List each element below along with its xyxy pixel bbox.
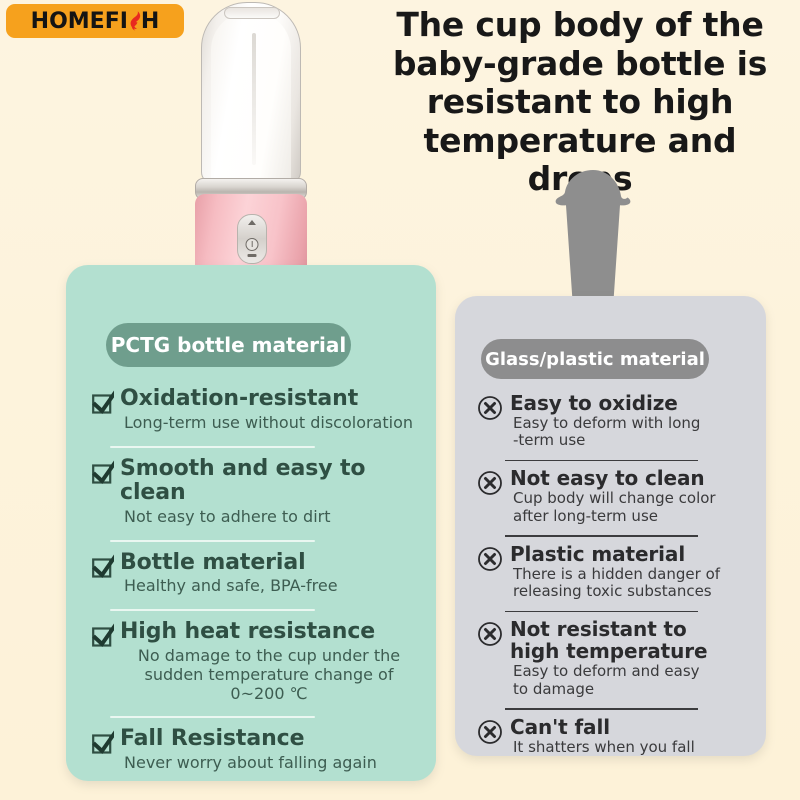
headline-line-2: baby-grade bottle is (368, 45, 792, 84)
list-item-subtitle: It shatters when you fall (513, 739, 752, 756)
checkbox-checked-icon (92, 730, 114, 756)
checkbox-checked-icon (92, 460, 114, 486)
brand-logo: HOMEFIH (6, 4, 184, 38)
list-item-title: Not easy to clean (510, 467, 752, 489)
divider (505, 611, 698, 613)
list-item-title: Fall Resistance (120, 727, 418, 752)
list-item-texts: Bottle material Healthy and safe, BPA-fr… (120, 551, 418, 597)
portable-blender-photo (193, 2, 309, 288)
blender-cup-body (201, 2, 301, 184)
list-item-texts: Oxidation-resistant Long-term use withou… (120, 387, 418, 433)
pctg-feature-list: Oxidation-resistant Long-term use withou… (92, 387, 418, 780)
list-item: Not easy to clean Cup body will change c… (477, 467, 752, 530)
logo-text-after: H (141, 9, 159, 34)
list-item-subtitle: Easy to deform and easy to damage (513, 663, 713, 698)
list-item-subtitle: Not easy to adhere to dirt (124, 508, 418, 527)
divider (110, 540, 315, 542)
list-item-texts: Not easy to clean Cup body will change c… (510, 467, 752, 525)
circle-x-icon (477, 395, 503, 421)
list-item-subtitle: Easy to deform with long -term use (513, 415, 752, 450)
divider (505, 460, 698, 462)
list-item-subtitle: Cup body will change color after long-te… (513, 490, 752, 525)
divider (110, 716, 315, 718)
list-item-title: Smooth and easy to clean (120, 457, 418, 506)
list-item: High heat resistance No damage to the cu… (92, 620, 418, 710)
list-item-texts: High heat resistance No damage to the cu… (120, 620, 418, 703)
glass-plastic-material-card: Glass/plastic material Easy to oxidize E… (455, 296, 766, 756)
circle-x-icon (477, 470, 503, 496)
list-item-title: Plastic material (510, 543, 752, 565)
list-item-subtitle: No damage to the cup under the sudden te… (120, 647, 418, 704)
divider (505, 708, 698, 710)
list-item-title: Can't fall (510, 716, 752, 738)
list-item-title: High heat resistance (120, 620, 418, 645)
divider (110, 446, 315, 448)
checkbox-checked-icon (92, 623, 114, 649)
list-item-title: Not resistant to high temperature (510, 618, 710, 662)
list-item-title: Oxidation-resistant (120, 387, 418, 412)
power-button-icon (246, 238, 259, 251)
bar-indicator-icon (248, 254, 257, 258)
headline-line-1: The cup body of the (368, 6, 792, 45)
list-item: Oxidation-resistant Long-term use withou… (92, 387, 418, 440)
checkbox-checked-icon (92, 554, 114, 580)
list-item: Fall Resistance Never worry about fallin… (92, 727, 418, 780)
list-item-subtitle: Long-term use without discoloration (124, 414, 418, 433)
logo-text-mid: OMEFI (49, 9, 128, 34)
headline-line-3: resistant to high (368, 83, 792, 122)
circle-x-icon (477, 621, 503, 647)
list-item: Easy to oxidize Easy to deform with long… (477, 392, 752, 455)
list-item-texts: Can't fall It shatters when you fall (510, 716, 752, 756)
triangle-up-icon (248, 220, 256, 225)
checkbox-checked-icon (92, 390, 114, 416)
glass-plastic-badge: Glass/plastic material (481, 339, 709, 379)
blender-control-panel (237, 214, 267, 264)
list-item-texts: Plastic material There is a hidden dange… (510, 543, 752, 601)
list-item-subtitle: Healthy and safe, BPA-free (124, 577, 418, 596)
list-item: Can't fall It shatters when you fall (477, 716, 752, 761)
list-item-texts: Smooth and easy to clean Not easy to adh… (120, 457, 418, 527)
flame-icon (128, 10, 141, 32)
circle-x-icon (477, 546, 503, 572)
list-item-subtitle: There is a hidden danger of releasing to… (513, 566, 752, 601)
logo-text-before: H (31, 9, 49, 34)
infographic-canvas: HOMEFIH The cup body of the baby-grade b… (0, 0, 800, 800)
list-item: Bottle material Healthy and safe, BPA-fr… (92, 551, 418, 604)
circle-x-icon (477, 719, 503, 745)
list-item-texts: Fall Resistance Never worry about fallin… (120, 727, 418, 773)
blender-cup-highlight (252, 33, 256, 165)
list-item: Plastic material There is a hidden dange… (477, 543, 752, 606)
list-item-texts: Easy to oxidize Easy to deform with long… (510, 392, 752, 450)
list-item-title: Easy to oxidize (510, 392, 752, 414)
list-item-texts: Not resistant to high temperature Easy t… (510, 618, 752, 698)
glass-cup-silhouette (545, 168, 641, 314)
brand-logo-text: HOMEFIH (31, 10, 160, 33)
divider (505, 535, 698, 537)
list-item-title: Bottle material (120, 551, 418, 576)
pctg-badge: PCTG bottle material (106, 323, 351, 367)
pctg-material-card: PCTG bottle material Oxidation-resistant… (66, 265, 436, 781)
list-item: Not resistant to high temperature Easy t… (477, 618, 752, 703)
glass-plastic-drawback-list: Easy to oxidize Easy to deform with long… (477, 392, 752, 761)
blender-cup-inner (211, 12, 291, 183)
divider (110, 609, 315, 611)
list-item: Smooth and easy to clean Not easy to adh… (92, 457, 418, 534)
list-item-subtitle: Never worry about falling again (124, 754, 418, 773)
blender-cup-lid (224, 7, 280, 19)
